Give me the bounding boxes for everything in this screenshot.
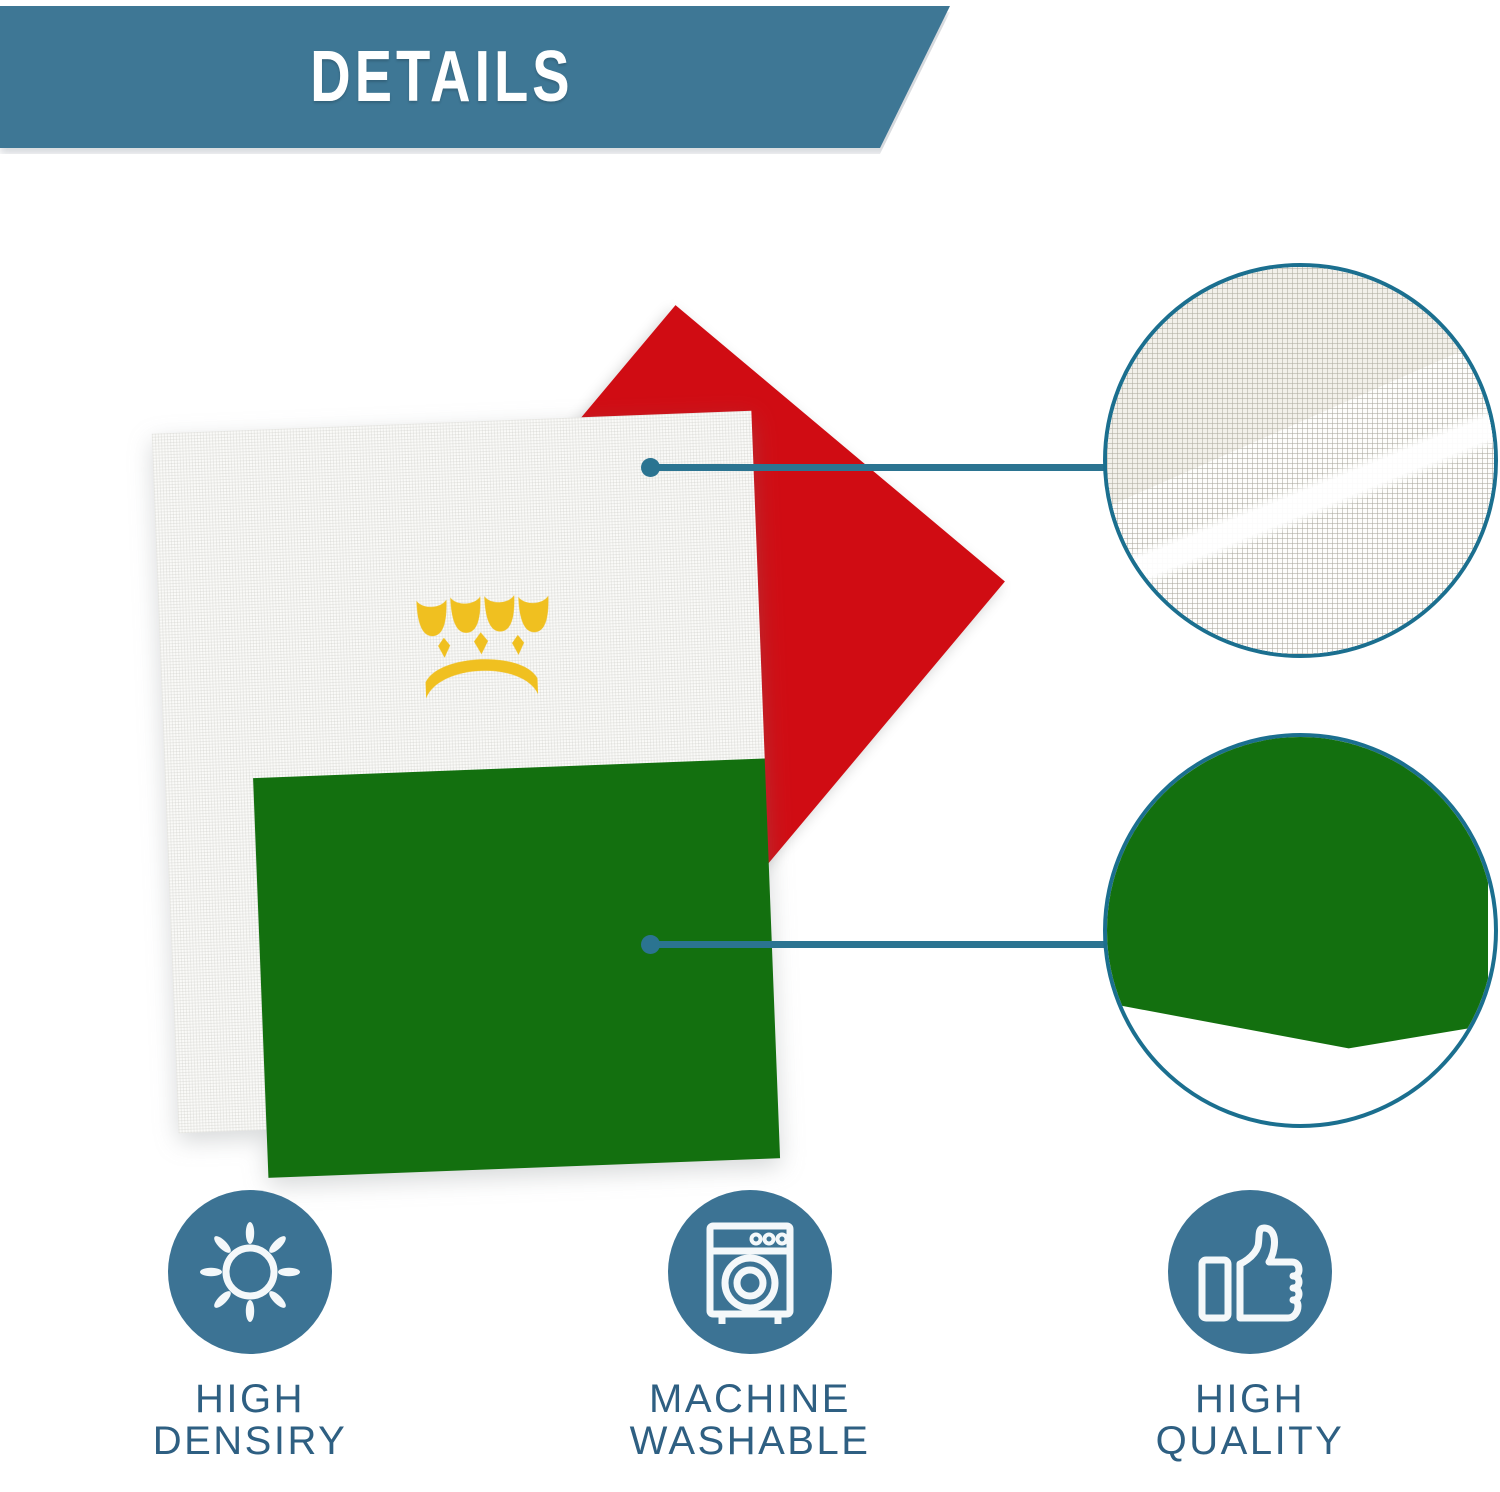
page-title: DETAILS xyxy=(310,36,573,118)
callout-dot-fabric xyxy=(641,458,660,477)
callout-line-green xyxy=(650,941,1110,948)
washing-machine-icon xyxy=(698,1218,802,1326)
green-panel xyxy=(253,758,780,1177)
fabric-weave-detail xyxy=(1103,263,1498,658)
feature-label-high-quality: HIGH QUALITY xyxy=(1156,1378,1345,1463)
feature-label-machine-washable: MACHINE WASHABLE xyxy=(630,1378,871,1463)
white-flag xyxy=(152,411,778,1134)
feature-machine-washable: MACHINE WASHABLE xyxy=(500,1190,1000,1492)
feature-high-quality: HIGH QUALITY xyxy=(1000,1190,1500,1492)
details-banner: DETAILS xyxy=(0,6,950,148)
callout-line-fabric xyxy=(650,464,1110,471)
fabric-fold-highlight xyxy=(1107,267,1494,654)
feature-label-high-density: HIGH DENSIRY xyxy=(153,1378,348,1463)
sun-icon-circle xyxy=(168,1190,332,1354)
feature-high-density: HIGH DENSIRY xyxy=(0,1190,500,1492)
sun-icon xyxy=(198,1220,302,1324)
callout-dot-green xyxy=(641,935,660,954)
green-panel-detail xyxy=(1103,733,1498,1128)
washing-machine-icon-circle xyxy=(668,1190,832,1354)
feature-row: HIGH DENSIRY MACHINE WASHABLE xyxy=(0,1190,1500,1492)
green-corner-swatch xyxy=(1103,733,1488,1118)
thumbs-up-icon-circle xyxy=(1168,1190,1332,1354)
thumbs-up-icon xyxy=(1196,1220,1304,1324)
crown-emblem-icon xyxy=(408,594,552,704)
